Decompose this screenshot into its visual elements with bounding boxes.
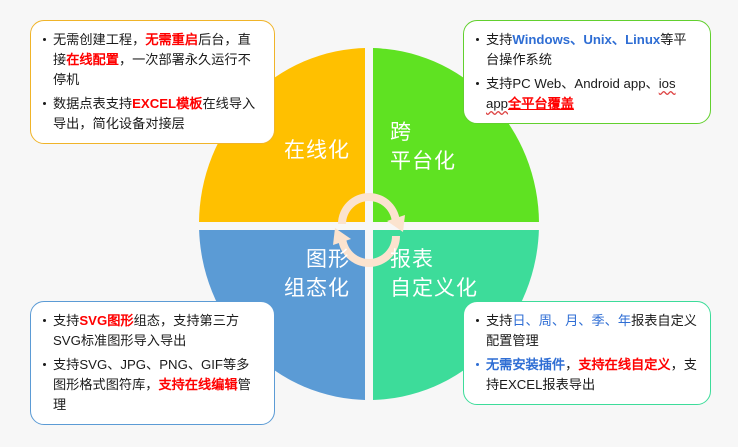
text-segment: 全平台覆盖 [508, 96, 574, 111]
text-segment: SVG图形 [79, 313, 133, 328]
text-segment: 支持 [53, 313, 79, 328]
callout-online-list: 无需创建工程，无需重启后台，直接在线配置，一次部署永久运行不停机 数据点表支持E… [41, 30, 262, 134]
text-segment: 无需创建工程， [53, 32, 145, 47]
text-segment: 支持在线自定义 [578, 357, 670, 372]
list-item: 支持SVG图形组态，支持第三方SVG标准图形导入导出 [41, 311, 262, 351]
text-segment: 支持 [486, 313, 512, 328]
list-item: 支持PC Web、Android app、ios app全平台覆盖 [474, 74, 698, 114]
diagram-canvas: 在线化 跨 平台化 图形 组态化 报表 自定义化 无需创建工程，无需重启后台，直… [0, 0, 738, 447]
list-item: 支持SVG、JPG、PNG、GIF等多图形格式图符库，支持在线编辑管理 [41, 355, 262, 415]
list-item: 支持Windows、Unix、Linux等平台操作系统 [474, 30, 698, 70]
text-segment: 日、周、月、季、年 [512, 313, 631, 328]
callout-cross-platform-list: 支持Windows、Unix、Linux等平台操作系统 支持PC Web、And… [474, 30, 698, 114]
text-segment: ， [565, 357, 578, 372]
text-segment: 在线配置 [66, 52, 119, 67]
callout-graphic: 支持SVG图形组态，支持第三方SVG标准图形导入导出 支持SVG、JPG、PNG… [30, 301, 275, 425]
callout-cross-platform: 支持Windows、Unix、Linux等平台操作系统 支持PC Web、And… [463, 20, 711, 124]
callout-report: 支持日、周、月、季、年报表自定义配置管理 无需安装插件，支持在线自定义，支持EX… [463, 301, 711, 405]
callout-online: 无需创建工程，无需重启后台，直接在线配置，一次部署永久运行不停机 数据点表支持E… [30, 20, 275, 144]
text-segment: 无需重启 [145, 32, 198, 47]
text-segment: Windows、Unix、Linux [512, 32, 660, 47]
text-segment: EXCEL模板 [132, 96, 202, 111]
callout-report-list: 支持日、周、月、季、年报表自定义配置管理 无需安装插件，支持在线自定义，支持EX… [474, 311, 698, 395]
text-segment: 支持在线编辑 [159, 377, 238, 392]
list-item: 无需安装插件，支持在线自定义，支持EXCEL报表导出 [474, 355, 698, 395]
list-item: 无需创建工程，无需重启后台，直接在线配置，一次部署永久运行不停机 [41, 30, 262, 90]
list-item: 支持日、周、月、季、年报表自定义配置管理 [474, 311, 698, 351]
text-segment: 支持 [486, 32, 512, 47]
callout-graphic-list: 支持SVG图形组态，支持第三方SVG标准图形导入导出 支持SVG、JPG、PNG… [41, 311, 262, 415]
text-segment: 数据点表支持 [53, 96, 132, 111]
text-segment: 支持PC Web、Android app、 [486, 76, 659, 91]
text-segment: 无需安装插件 [486, 357, 565, 372]
list-item: 数据点表支持EXCEL模板在线导入导出，简化设备对接层 [41, 94, 262, 134]
